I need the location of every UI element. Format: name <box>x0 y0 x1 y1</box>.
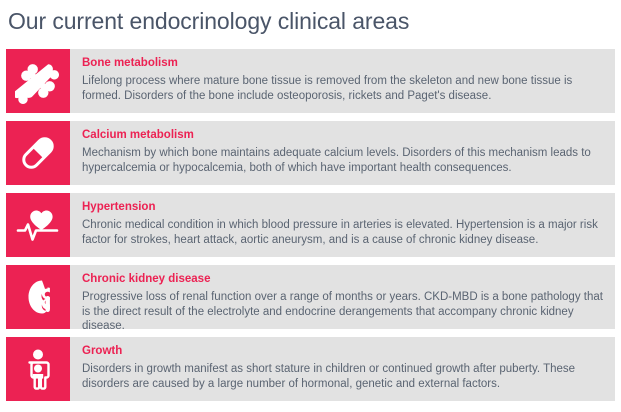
growth-person-icon <box>6 337 70 401</box>
list-item-heading: Chronic kidney disease <box>82 272 605 286</box>
list-item-description: Mechanism by which bone maintains adequa… <box>82 146 605 175</box>
list-item-description: Lifelong process where mature bone tissu… <box>82 74 605 103</box>
bone-icon <box>6 49 70 113</box>
list-item-description: Disorders in growth manifest as short st… <box>82 362 605 391</box>
page-title: Our current endocrinology clinical areas <box>8 8 409 35</box>
list-item-description: Progressive loss of renal function over … <box>82 290 605 334</box>
list-item-body: Calcium metabolism Mechanism by which bo… <box>70 121 615 185</box>
kidney-icon <box>6 265 70 329</box>
list-item-description: Chronic medical condition in which blood… <box>82 218 605 247</box>
list-item[interactable]: Bone metabolism Lifelong process where m… <box>6 49 615 113</box>
clinical-areas-list: Bone metabolism Lifelong process where m… <box>6 49 615 409</box>
list-item-body: Hypertension Chronic medical condition i… <box>70 193 615 257</box>
list-item[interactable]: Hypertension Chronic medical condition i… <box>6 193 615 257</box>
clinical-areas-page: Our current endocrinology clinical areas <box>0 0 621 412</box>
heart-pulse-icon <box>6 193 70 257</box>
capsule-pill-icon <box>6 121 70 185</box>
list-item-heading: Bone metabolism <box>82 56 605 70</box>
list-item[interactable]: Growth Disorders in growth manifest as s… <box>6 337 615 401</box>
list-item-heading: Hypertension <box>82 200 605 214</box>
list-item-body: Bone metabolism Lifelong process where m… <box>70 49 615 113</box>
list-item[interactable]: Calcium metabolism Mechanism by which bo… <box>6 121 615 185</box>
list-item[interactable]: Chronic kidney disease Progressive loss … <box>6 265 615 329</box>
list-item-body: Chronic kidney disease Progressive loss … <box>70 265 615 329</box>
list-item-body: Growth Disorders in growth manifest as s… <box>70 337 615 401</box>
list-item-heading: Calcium metabolism <box>82 128 605 142</box>
list-item-heading: Growth <box>82 344 605 358</box>
